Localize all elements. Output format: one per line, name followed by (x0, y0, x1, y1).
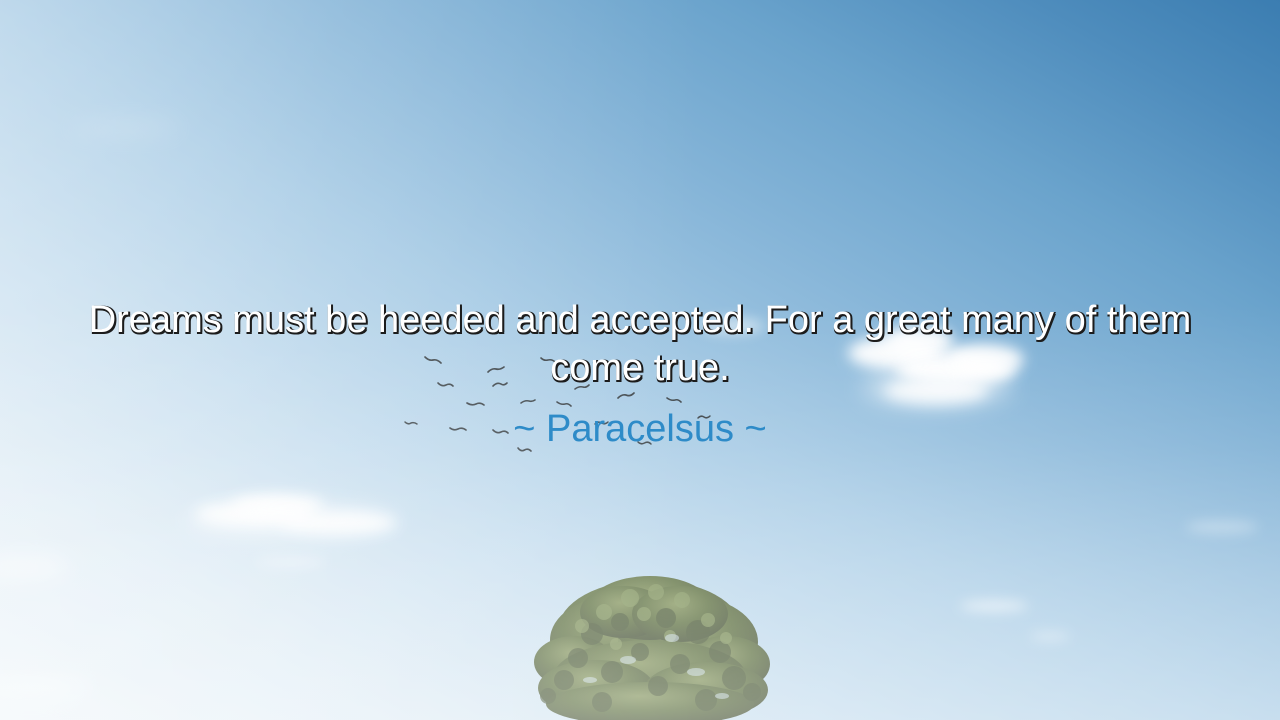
cloud-far-left-low (0, 676, 90, 700)
cloud-left-bank-b (232, 494, 324, 516)
quote-image-canvas: Dreams must be heeded and accepted. For … (0, 0, 1280, 720)
cloud-right-edge-wisp (1186, 520, 1258, 534)
cloud-left-bank-haze (186, 504, 396, 538)
attribution-text: ~ Paracelsus ~ (40, 406, 1240, 452)
bird-icon (520, 398, 536, 406)
cloud-upper-left-wisp (70, 120, 180, 136)
quote-text: Dreams must be heeded and accepted. For … (40, 296, 1240, 392)
cloud-left-bank-c (280, 512, 396, 534)
cloud-right-low-wisp-b (1030, 632, 1070, 641)
cloud-far-left-edge (0, 556, 70, 578)
cloud-left-bank-a (196, 502, 314, 526)
bird-icon (617, 392, 635, 401)
cloud-left-low-wisp (256, 556, 326, 568)
cloud-right-low-wisp-a (960, 600, 1028, 612)
bird-icon (666, 396, 682, 404)
oak-tree (520, 568, 780, 720)
